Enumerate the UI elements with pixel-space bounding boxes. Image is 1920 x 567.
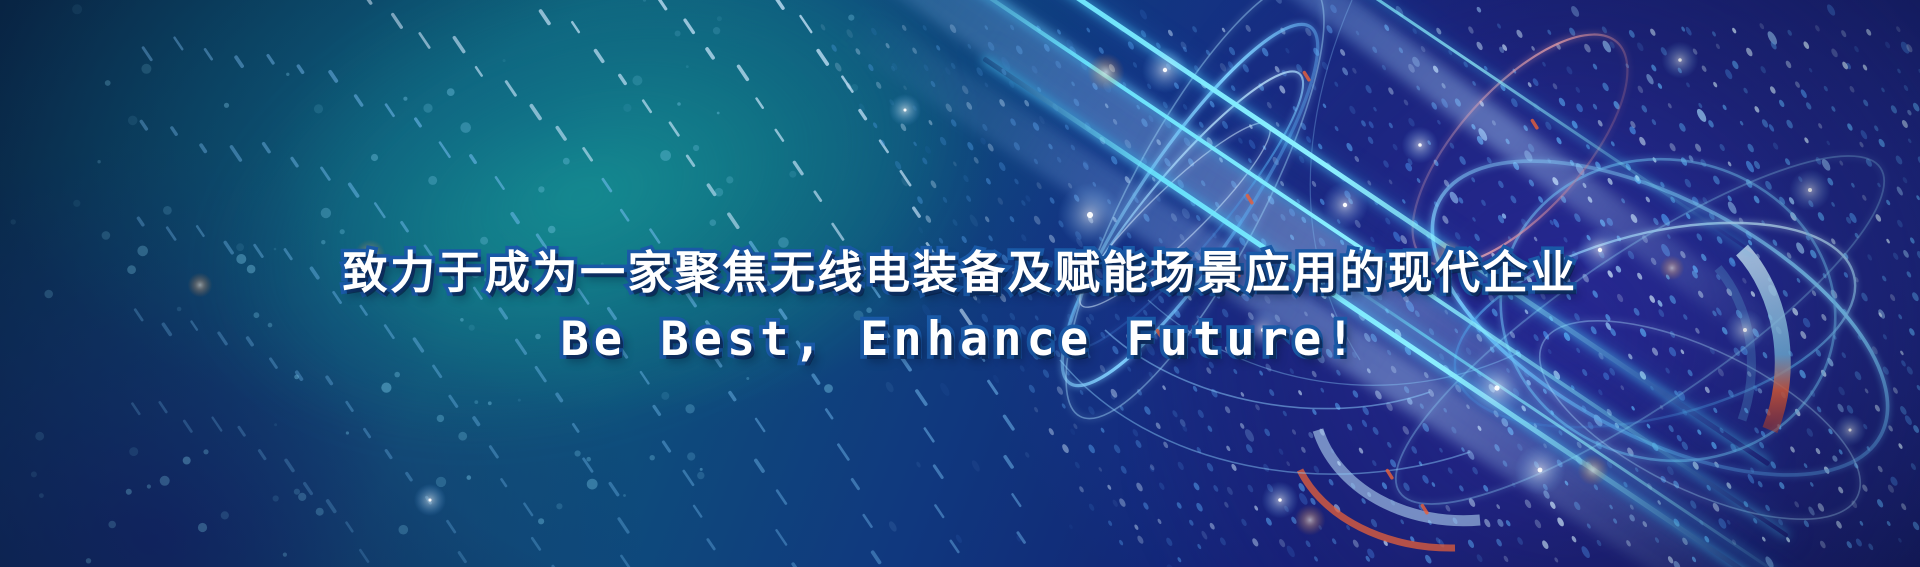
hero-banner: 致力于成为一家聚焦无线电装备及赋能场景应用的现代企业 Be Best, Enha… (0, 0, 1920, 567)
edge-vignette (0, 0, 1920, 567)
